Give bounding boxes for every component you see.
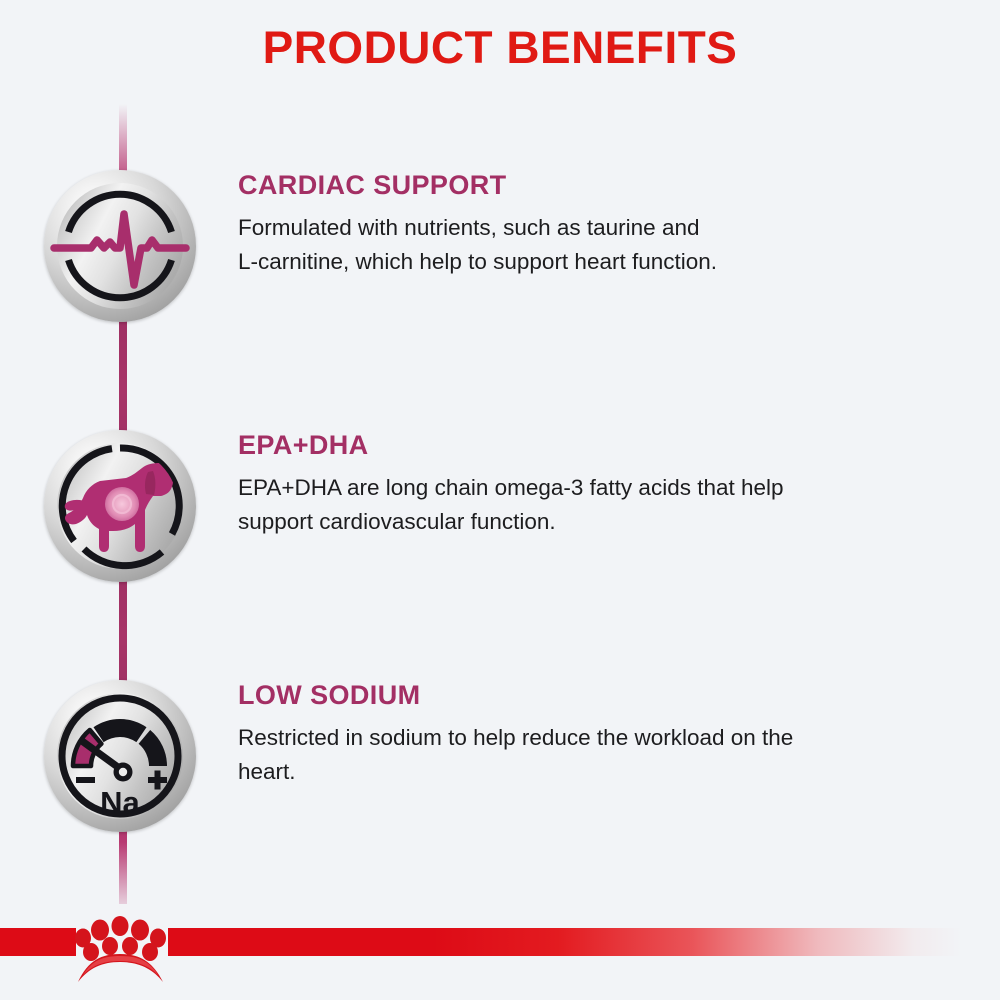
- benefit-text-block: EPA+DHA EPA+DHA are long chain omega-3 f…: [238, 430, 784, 539]
- benefit-title: LOW SODIUM: [238, 680, 793, 711]
- heartbeat-ecg-icon: [44, 170, 196, 322]
- benefit-icon-medallion: [44, 170, 196, 322]
- benefit-body: Restricted in sodium to help reduce the …: [238, 721, 793, 789]
- benefit-text-block: CARDIAC SUPPORT Formulated with nutrient…: [238, 170, 717, 279]
- minus-sign: [76, 777, 95, 783]
- benefit-text-block: LOW SODIUM Restricted in sodium to help …: [238, 680, 793, 789]
- benefit-title: EPA+DHA: [238, 430, 784, 461]
- dog-silhouette-icon: [44, 430, 196, 582]
- royal-canin-crown-paw-logo: [62, 904, 182, 988]
- benefit-title: CARDIAC SUPPORT: [238, 170, 717, 201]
- product-benefits-page: PRODUCT BENEFITS CARDIAC SUPPORT Formula…: [0, 0, 1000, 1000]
- benefit-icon-medallion: Na: [44, 680, 196, 832]
- benefit-body: EPA+DHA are long chain omega-3 fatty aci…: [238, 471, 784, 539]
- plus-sign: [148, 771, 167, 790]
- svg-text:Na: Na: [100, 785, 140, 820]
- sodium-gauge-icon: Na: [44, 680, 196, 832]
- benefit-body: Formulated with nutrients, such as tauri…: [238, 211, 717, 279]
- benefit-icon-medallion: [44, 430, 196, 582]
- page-title: PRODUCT BENEFITS: [0, 22, 1000, 74]
